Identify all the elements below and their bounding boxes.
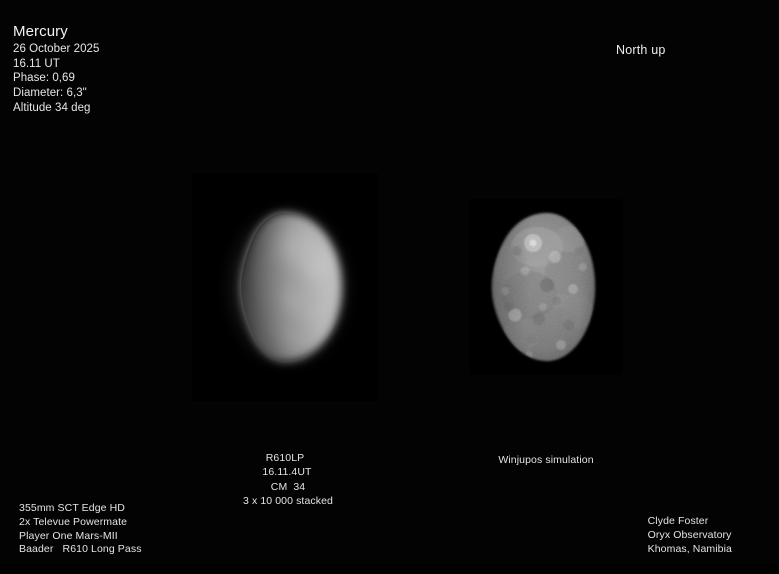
equipment-telescope: 355mm SCT Edge HD	[19, 503, 142, 515]
credit-observatory: Oryx Observatory	[648, 530, 732, 542]
simulation-render	[469, 199, 623, 375]
observation-date: 26 October 2025	[13, 43, 99, 55]
target-info-block: Mercury 26 October 2025 16.11 UT Phase: …	[13, 24, 99, 114]
credit-location: Khomas, Namibia	[648, 544, 732, 556]
capture-cm-label: CM 34	[198, 481, 378, 493]
phase-value: Phase: 0,69	[13, 72, 99, 84]
credit-author: Clyde Foster	[648, 516, 732, 528]
winjupos-simulation-image	[469, 199, 623, 375]
equipment-camera: Player One Mars-MII	[19, 531, 142, 543]
capture-caption: R610LP 16.11.4UT CM 34 3 x 10 000 stacke…	[192, 450, 378, 508]
plate-bottom-band	[0, 564, 779, 574]
simulation-caption: Winjupos simulation	[469, 454, 623, 466]
equipment-filter: Baader R610 Long Pass	[19, 544, 142, 556]
mercury-capture-image	[192, 173, 378, 401]
image-plate: Mercury 26 October 2025 16.11 UT Phase: …	[0, 0, 779, 574]
orientation-label: North up	[616, 43, 666, 57]
capture-stack-label: 3 x 10 000 stacked	[198, 495, 378, 507]
equipment-barlow: 2x Televue Powermate	[19, 517, 142, 529]
diameter-value: Diameter: 6,3"	[13, 87, 99, 99]
capture-render	[192, 173, 378, 401]
equipment-block: 355mm SCT Edge HD 2x Televue Powermate P…	[19, 501, 142, 556]
page-title: Mercury	[13, 24, 99, 40]
altitude-value: Altitude 34 deg	[13, 102, 99, 114]
observation-time: 16.11 UT	[13, 58, 99, 70]
credit-block: Clyde Foster Oryx Observatory Khomas, Na…	[648, 514, 732, 555]
capture-time-label: 16.11.4UT	[196, 466, 378, 478]
capture-filter-label: R610LP	[192, 452, 378, 464]
